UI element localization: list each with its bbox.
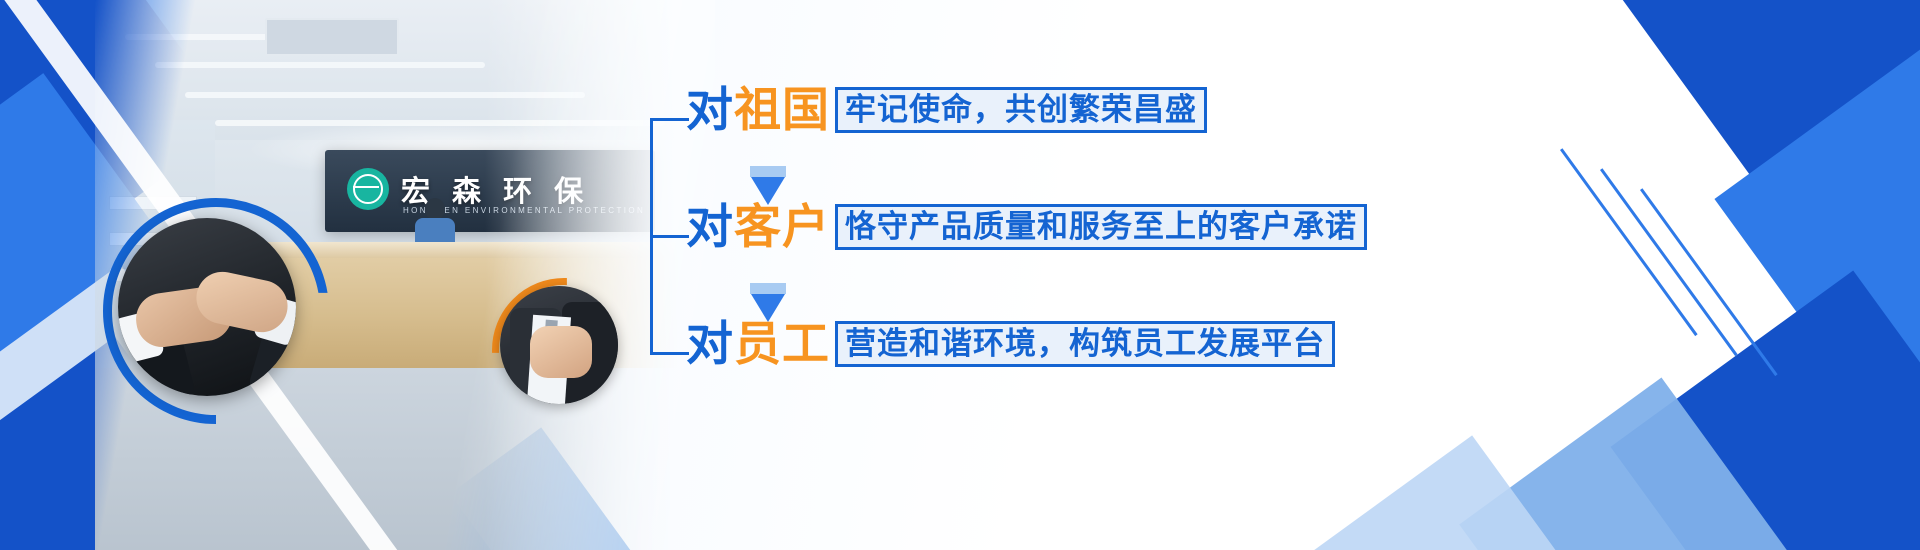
value-row-employee-highlight: 员工 xyxy=(734,317,830,370)
connector-arm xyxy=(653,352,689,355)
value-statement-list: 对祖国 牢记使命，共创繁荣昌盛 对客户 恪守产品质量和服务至上的客户承诺 对员工 xyxy=(650,0,1350,550)
value-row-customer: 对客户 恪守产品质量和服务至上的客户承诺 xyxy=(686,203,1367,250)
value-row-customer-tagtext: 恪守产品质量和服务至上的客户承诺 xyxy=(845,209,1357,244)
connector-arm xyxy=(653,235,689,238)
photo-ceiling-vent xyxy=(265,18,399,56)
value-row-country-tagbox: 牢记使命，共创繁荣昌盛 xyxy=(835,87,1207,133)
decor-line xyxy=(1600,168,1738,356)
decor-shape-bottom-right-dark xyxy=(1610,270,1920,550)
value-row-country-tagtext: 牢记使命，共创繁荣昌盛 xyxy=(845,92,1197,127)
value-row-country-prefix: 对 xyxy=(686,83,734,136)
team-photo xyxy=(500,286,618,404)
value-row-country-lead: 对祖国 xyxy=(686,86,830,133)
value-row-employee-prefix: 对 xyxy=(686,317,734,370)
value-row-employee-tagtext: 营造和谐环境，构筑员工发展平台 xyxy=(845,326,1325,361)
handshake-photo xyxy=(118,218,296,396)
promo-banner: 宏 森 环 保 HONGSEN ENVIRONMENTAL PROTECTION xyxy=(0,0,1920,550)
value-row-customer-prefix: 对 xyxy=(686,200,734,253)
decor-line xyxy=(1640,188,1778,376)
value-row-customer-lead: 对客户 xyxy=(686,203,830,250)
value-row-customer-highlight: 客户 xyxy=(734,200,830,253)
value-row-country-highlight: 祖国 xyxy=(734,83,830,136)
globe-icon xyxy=(347,168,389,210)
decor-shape-bottom-right-pale xyxy=(1459,378,1791,550)
value-row-employee-tagbox: 营造和谐环境，构筑员工发展平台 xyxy=(835,321,1335,367)
connector-bracket xyxy=(650,118,689,355)
decor-shape-top-right-mid xyxy=(1714,34,1920,425)
connector-arm xyxy=(653,118,689,121)
decor-shape-top-right-dark xyxy=(1620,0,1920,240)
value-row-customer-tagbox: 恪守产品质量和服务至上的客户承诺 xyxy=(835,204,1367,250)
photo-ceiling-light xyxy=(155,62,485,68)
value-row-employee: 对员工 营造和谐环境，构筑员工发展平台 xyxy=(686,320,1335,367)
value-row-employee-lead: 对员工 xyxy=(686,320,830,367)
decor-shape-bottom-right-pale2 xyxy=(1310,435,1589,550)
value-row-country: 对祖国 牢记使命，共创繁荣昌盛 xyxy=(686,86,1207,133)
